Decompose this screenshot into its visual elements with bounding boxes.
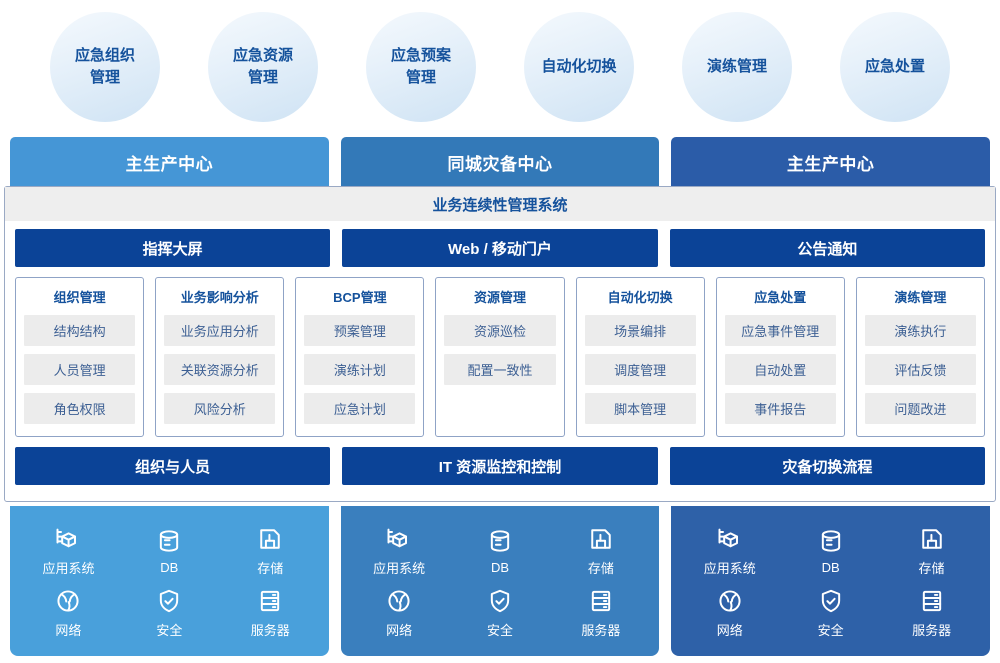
module-item[interactable]: 角色权限 <box>24 393 135 424</box>
module-card-title: 资源管理 <box>444 287 555 306</box>
module-item[interactable]: 场景编排 <box>585 315 696 346</box>
band-col: 灾备切换流程 <box>670 447 985 485</box>
infra-item-label: 服务器 <box>912 620 951 639</box>
band-col: 公告通知 <box>670 229 985 267</box>
center-tab-1[interactable]: 主生产中心 <box>10 137 329 187</box>
database-icon <box>486 527 514 555</box>
storage-icon <box>918 525 946 553</box>
infra-item[interactable]: 服务器 <box>912 587 951 639</box>
bottom-bar-band: 组织与人员IT 资源监控和控制灾备切换流程 <box>15 447 985 485</box>
network-globe-icon <box>716 587 744 615</box>
infrastructure-panel-2: 应用系统DB存储网络安全服务器 <box>341 506 660 656</box>
infrastructure-row: 应用系统DB存储网络安全服务器应用系统DB存储网络安全服务器应用系统DB存储网络… <box>10 506 990 656</box>
network-globe-icon <box>54 587 82 615</box>
bottom-bar-1[interactable]: 组织与人员 <box>15 447 330 485</box>
panel-title: 业务连续性管理系统 <box>5 187 995 221</box>
infra-item-label: DB <box>160 560 178 575</box>
module-item[interactable]: 调度管理 <box>585 354 696 385</box>
infra-item-label: 应用系统 <box>42 558 94 577</box>
infra-item-label: 网络 <box>717 620 743 639</box>
database-icon <box>155 527 183 555</box>
bottom-bar-3[interactable]: 灾备切换流程 <box>670 447 985 485</box>
infra-item[interactable]: 安全 <box>817 587 845 639</box>
top-bar-2[interactable]: Web / 移动门户 <box>342 229 657 267</box>
app-system-icon <box>385 525 413 553</box>
module-item[interactable]: 资源巡检 <box>444 315 555 346</box>
infrastructure-panel-3: 应用系统DB存储网络安全服务器 <box>671 506 990 656</box>
infra-item[interactable]: 应用系统 <box>42 525 94 577</box>
bottom-bar-2[interactable]: IT 资源监控和控制 <box>342 447 657 485</box>
infra-item[interactable]: DB <box>155 527 183 575</box>
band-col: 组织与人员 <box>15 447 330 485</box>
band-col: 指挥大屏 <box>15 229 330 267</box>
bubble-label: 自动化切换 <box>541 56 616 78</box>
module-item[interactable]: 事件报告 <box>725 393 836 424</box>
server-rack-icon <box>587 587 615 615</box>
shield-check-icon <box>155 587 183 615</box>
module-card-row: 组织管理结构结构人员管理角色权限业务影响分析业务应用分析关联资源分析风险分析BC… <box>15 277 985 437</box>
infra-item-label: 存储 <box>919 558 945 577</box>
infra-item-label: 网络 <box>55 620 81 639</box>
infra-item[interactable]: DB <box>486 527 514 575</box>
infra-item[interactable]: 网络 <box>385 587 413 639</box>
module-item[interactable]: 评估反馈 <box>865 354 976 385</box>
module-item[interactable]: 演练执行 <box>865 315 976 346</box>
infra-item-label: 存储 <box>588 558 614 577</box>
module-card-title: 应急处置 <box>725 287 836 306</box>
module-card-title: 演练管理 <box>865 287 976 306</box>
module-card-title: 自动化切换 <box>585 287 696 306</box>
module-item[interactable]: 问题改进 <box>865 393 976 424</box>
infra-item[interactable]: 应用系统 <box>373 525 425 577</box>
network-globe-icon <box>385 587 413 615</box>
bubble-emergency-org[interactable]: 应急组织 管理 <box>50 12 160 122</box>
bcm-system-panel: 业务连续性管理系统 指挥大屏Web / 移动门户公告通知 组织管理结构结构人员管… <box>4 186 996 502</box>
storage-icon <box>256 525 284 553</box>
shield-check-icon <box>817 587 845 615</box>
bubble-label: 演练管理 <box>707 56 767 78</box>
module-card: 资源管理资源巡检配置一致性 <box>435 277 564 437</box>
app-system-icon <box>716 525 744 553</box>
module-item[interactable]: 应急计划 <box>304 393 415 424</box>
infrastructure-panel-1: 应用系统DB存储网络安全服务器 <box>10 506 329 656</box>
bubble-emergency-handling[interactable]: 应急处置 <box>840 12 950 122</box>
bubble-drill-mgmt[interactable]: 演练管理 <box>682 12 792 122</box>
center-tab-2[interactable]: 同城灾备中心 <box>341 137 660 187</box>
infra-item-label: 安全 <box>156 620 182 639</box>
module-item[interactable]: 人员管理 <box>24 354 135 385</box>
center-tab-3[interactable]: 主生产中心 <box>671 137 990 187</box>
top-bar-3[interactable]: 公告通知 <box>670 229 985 267</box>
infra-item[interactable]: 存储 <box>918 525 946 577</box>
infra-item[interactable]: 安全 <box>155 587 183 639</box>
server-rack-icon <box>256 587 284 615</box>
infra-item[interactable]: 服务器 <box>581 587 620 639</box>
capability-bubble-row: 应急组织 管理应急资源 管理应急预案 管理自动化切换演练管理应急处置 <box>0 8 1000 126</box>
module-item[interactable]: 结构结构 <box>24 315 135 346</box>
shield-check-icon <box>486 587 514 615</box>
infra-item-label: 应用系统 <box>704 558 756 577</box>
infra-item[interactable]: 应用系统 <box>704 525 756 577</box>
module-item[interactable]: 预案管理 <box>304 315 415 346</box>
module-card-title: 业务影响分析 <box>164 287 275 306</box>
center-tab-row: 主生产中心同城灾备中心主生产中心 <box>10 137 990 187</box>
infra-item-label: 安全 <box>487 620 513 639</box>
infra-item-label: 应用系统 <box>373 558 425 577</box>
module-item[interactable]: 演练计划 <box>304 354 415 385</box>
module-item[interactable]: 应急事件管理 <box>725 315 836 346</box>
infra-item[interactable]: 网络 <box>54 587 82 639</box>
bubble-emergency-plan[interactable]: 应急预案 管理 <box>366 12 476 122</box>
infra-item-label: 存储 <box>257 558 283 577</box>
module-card: 应急处置应急事件管理自动处置事件报告 <box>716 277 845 437</box>
module-card-title: BCP管理 <box>304 287 415 306</box>
infra-item-label: 安全 <box>818 620 844 639</box>
infra-item[interactable]: 存储 <box>256 525 284 577</box>
band-col: Web / 移动门户 <box>342 229 657 267</box>
bubble-emergency-resource[interactable]: 应急资源 管理 <box>208 12 318 122</box>
bubble-auto-switch[interactable]: 自动化切换 <box>524 12 634 122</box>
bubble-label: 应急组织 管理 <box>75 45 135 89</box>
bubble-label: 应急预案 管理 <box>391 45 451 89</box>
bubble-label: 应急处置 <box>865 56 925 78</box>
module-card: BCP管理预案管理演练计划应急计划 <box>295 277 424 437</box>
module-card: 自动化切换场景编排调度管理脚本管理 <box>576 277 705 437</box>
top-bar-1[interactable]: 指挥大屏 <box>15 229 330 267</box>
infra-item[interactable]: DB <box>817 527 845 575</box>
bubble-label: 应急资源 管理 <box>233 45 293 89</box>
infra-item-label: 网络 <box>386 620 412 639</box>
module-item[interactable]: 业务应用分析 <box>164 315 275 346</box>
infra-item-label: 服务器 <box>251 620 290 639</box>
module-item[interactable]: 自动处置 <box>725 354 836 385</box>
module-card: 业务影响分析业务应用分析关联资源分析风险分析 <box>155 277 284 437</box>
infra-item[interactable]: 存储 <box>587 525 615 577</box>
infra-item-label: DB <box>491 560 509 575</box>
infra-item-label: DB <box>822 560 840 575</box>
module-item[interactable]: 配置一致性 <box>444 354 555 385</box>
server-rack-icon <box>918 587 946 615</box>
top-bar-band: 指挥大屏Web / 移动门户公告通知 <box>15 229 985 267</box>
storage-icon <box>587 525 615 553</box>
module-item[interactable]: 风险分析 <box>164 393 275 424</box>
module-card: 组织管理结构结构人员管理角色权限 <box>15 277 144 437</box>
infra-item[interactable]: 网络 <box>716 587 744 639</box>
module-card-title: 组织管理 <box>24 287 135 306</box>
module-item[interactable]: 脚本管理 <box>585 393 696 424</box>
infra-item-label: 服务器 <box>581 620 620 639</box>
app-system-icon <box>54 525 82 553</box>
infra-item[interactable]: 服务器 <box>251 587 290 639</box>
diagram-root: 应急组织 管理应急资源 管理应急预案 管理自动化切换演练管理应急处置 主生产中心… <box>0 0 1000 663</box>
module-item[interactable]: 关联资源分析 <box>164 354 275 385</box>
module-card: 演练管理演练执行评估反馈问题改进 <box>856 277 985 437</box>
band-col: IT 资源监控和控制 <box>342 447 657 485</box>
database-icon <box>817 527 845 555</box>
infra-item[interactable]: 安全 <box>486 587 514 639</box>
